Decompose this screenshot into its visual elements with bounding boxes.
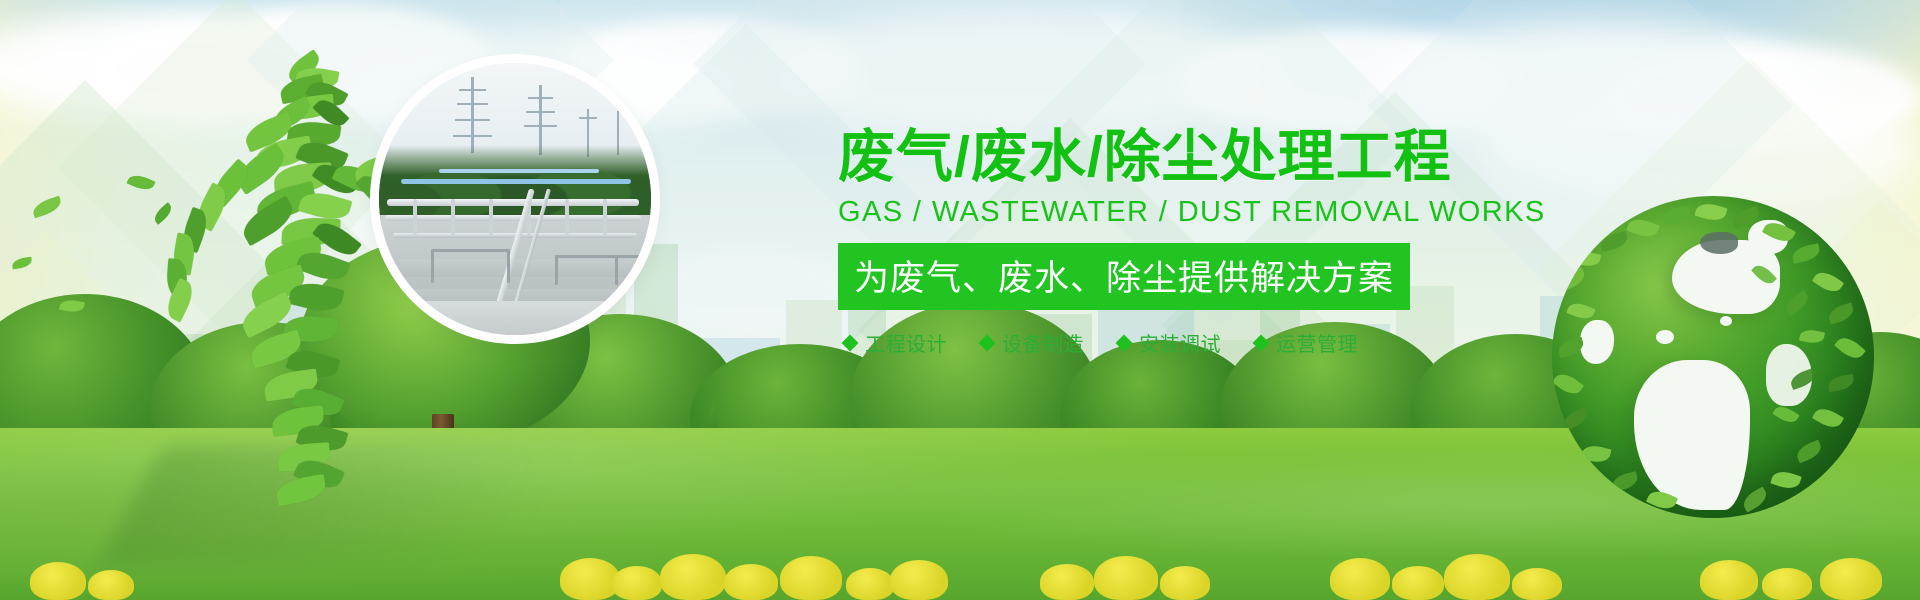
diamond-bullet-icon — [1116, 334, 1133, 351]
diamond-bullet-icon — [1253, 334, 1270, 351]
feature-item-equipment-manufacturing[interactable]: 设备制造 — [981, 328, 1084, 357]
feature-list: 工程设计 设备制造 安装调试 运营管理 — [838, 328, 1498, 357]
continent-island-left — [1580, 320, 1614, 364]
continent-south-america — [1634, 360, 1750, 510]
feature-item-installation-commissioning[interactable]: 安装调试 — [1118, 328, 1221, 357]
slogan-banner: 为废气、废水、除尘提供解决方案 — [838, 243, 1410, 310]
feature-item-operation-management[interactable]: 运营管理 — [1255, 328, 1358, 357]
hero-text-block: 废气/废水/除尘处理工程 GAS / WASTEWATER / DUST REM… — [838, 128, 1498, 357]
feature-label: 安装调试 — [1139, 328, 1221, 357]
pipe-run — [387, 199, 639, 206]
diamond-bullet-icon — [979, 334, 996, 351]
green-leaf-globe — [1552, 196, 1874, 518]
feature-label: 工程设计 — [865, 328, 947, 357]
page-subtitle: GAS / WASTEWATER / DUST REMOVAL WORKS — [838, 196, 1498, 229]
wastewater-treatment-plant-photo — [379, 63, 651, 335]
page-title: 废气/废水/除尘处理工程 — [838, 128, 1498, 187]
feature-label: 运营管理 — [1276, 328, 1358, 357]
feature-label: 设备制造 — [1002, 328, 1084, 357]
hero-banner: 废气/废水/除尘处理工程 GAS / WASTEWATER / DUST REM… — [0, 0, 1920, 600]
diamond-bullet-icon — [842, 334, 859, 351]
continent-island-small — [1656, 330, 1674, 344]
circular-photo-frame — [379, 63, 651, 335]
feature-item-engineering-design[interactable]: 工程设计 — [844, 328, 947, 357]
blue-railing — [401, 179, 631, 184]
continent-island-tiny — [1720, 316, 1732, 326]
yellow-flower-row — [0, 510, 1920, 600]
